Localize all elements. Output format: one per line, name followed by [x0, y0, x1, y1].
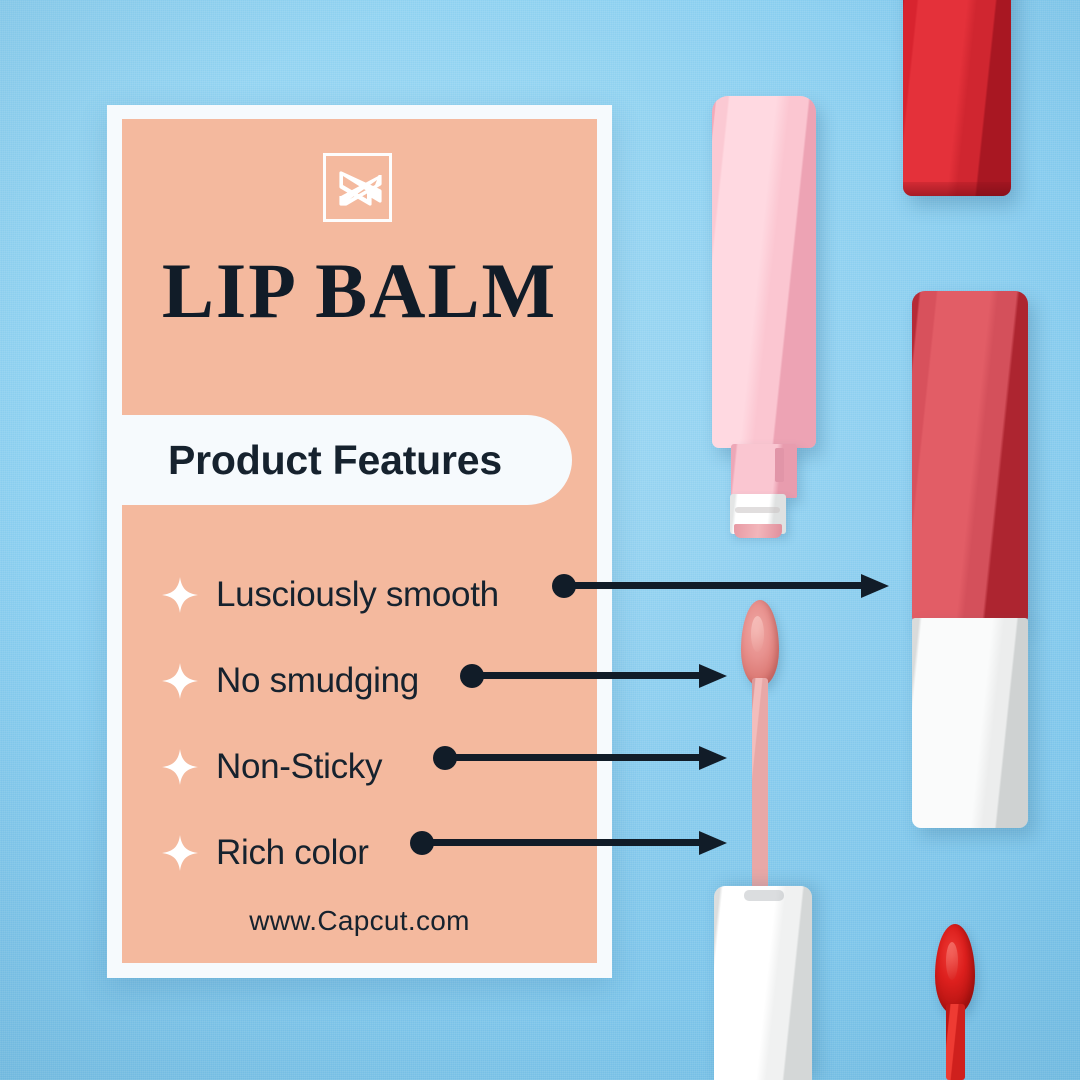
capcut-logo-icon [337, 171, 384, 210]
website-url: www.Capcut.com [122, 905, 597, 937]
sparkle-star-icon [162, 835, 198, 871]
section-heading-pill: Product Features [122, 415, 572, 505]
capcut-logo-frame [323, 153, 392, 222]
feature-item: No smudging [122, 638, 597, 724]
feature-list: Lusciously smooth No smudging Non-Sticky… [122, 552, 597, 896]
feature-label: Rich color [216, 833, 369, 873]
feature-item: Non-Sticky [122, 724, 597, 810]
poster-canvas: LIP BALM Product Features Lusciously smo… [0, 0, 1080, 1080]
feature-label: No smudging [216, 661, 419, 701]
product-red-gloss-wand-stem [946, 1004, 965, 1080]
page-title: LIP BALM [122, 252, 597, 330]
product-coral-lipstick-base [912, 618, 1028, 828]
product-lip-gloss-wand-stem [752, 678, 768, 896]
feature-item: Lusciously smooth [122, 552, 597, 638]
feature-label: Non-Sticky [216, 747, 382, 787]
product-pink-tube-bullet [734, 524, 782, 538]
feature-item: Rich color [122, 810, 597, 896]
sparkle-star-icon [162, 749, 198, 785]
feature-label: Lusciously smooth [216, 575, 499, 615]
product-lip-gloss-tube-white [714, 886, 812, 1080]
sparkle-star-icon [162, 663, 198, 699]
product-pink-tube-notch [775, 448, 784, 482]
product-pink-lipstick-tube [712, 96, 816, 448]
product-coral-lipstick-tube [912, 291, 1028, 621]
product-pink-tube-neck [731, 444, 797, 498]
sparkle-star-icon [162, 577, 198, 613]
section-heading-label: Product Features [168, 437, 502, 484]
product-red-lipstick-cap [903, 0, 1011, 196]
